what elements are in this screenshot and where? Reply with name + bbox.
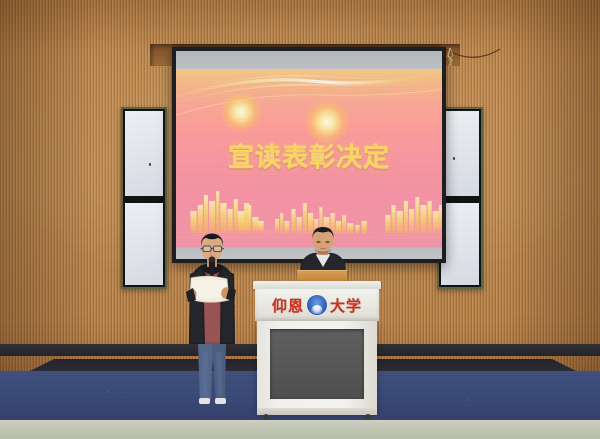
slide-title: 宣读表彰决定 xyxy=(176,137,442,174)
alcove-left-recess xyxy=(150,44,172,66)
whiteboard-speck xyxy=(149,163,151,166)
person-standing-speaker xyxy=(178,232,246,417)
podium-caster-left xyxy=(263,414,269,420)
whiteboard-left-inner xyxy=(123,109,165,287)
auditorium-floor xyxy=(0,420,600,439)
podium-caster-right xyxy=(365,414,371,420)
auditorium-scene: 宣读表彰决定 xyxy=(0,0,600,439)
podium-front-panel xyxy=(270,329,364,399)
whiteboard-right-bottom-pane xyxy=(441,203,479,285)
projected-slide: 宣读表彰决定 xyxy=(176,69,442,247)
podium-top-surface xyxy=(253,281,381,289)
podium-base xyxy=(257,408,377,415)
podium-body xyxy=(257,321,377,411)
whiteboard-left xyxy=(121,107,167,289)
podium-text-right: 大学 xyxy=(330,295,362,316)
podium-text-left: 仰恩 xyxy=(272,295,304,316)
whiteboard-speck xyxy=(453,157,455,160)
screen-blank-top-band xyxy=(176,51,442,69)
podium: 仰恩 大学 xyxy=(253,281,381,420)
projector-cable-icon xyxy=(442,46,502,68)
whiteboard-right-top-pane xyxy=(441,111,479,196)
whiteboard-left-top-pane xyxy=(125,111,163,196)
whiteboard-left-bottom-pane xyxy=(125,203,163,285)
university-emblem-icon xyxy=(307,295,327,315)
podium-name-band: 仰恩 大学 xyxy=(255,289,379,321)
light-orb-left xyxy=(220,91,262,133)
